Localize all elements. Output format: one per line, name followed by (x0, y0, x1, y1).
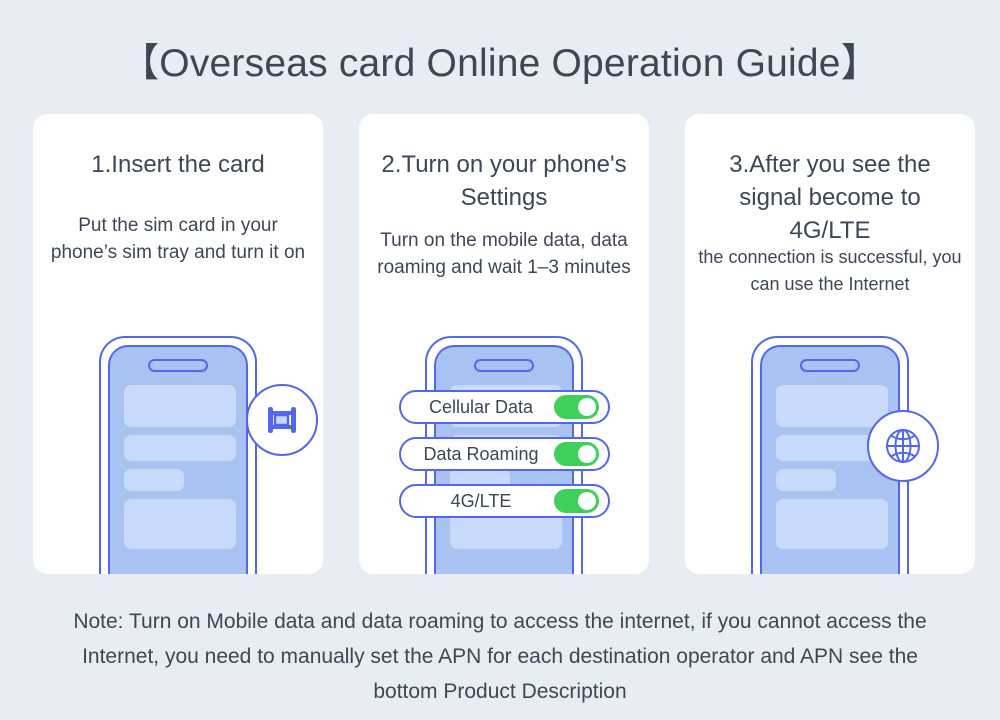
toggle-row-data-roaming[interactable]: Data Roaming (399, 437, 610, 471)
step-card-1: 1.Insert the card Put the sim card in yo… (33, 114, 323, 574)
screen-content-block (776, 469, 836, 491)
screen-content-block (124, 435, 236, 461)
phone-screen (108, 345, 248, 574)
sim-card-tray-badge (246, 384, 318, 456)
data-roaming-switch[interactable] (554, 442, 599, 466)
screen-content-block (124, 469, 184, 491)
screen-content-block (124, 385, 236, 427)
toggle-row-4g-lte[interactable]: 4G/LTE (399, 484, 610, 518)
phone-speaker-icon (800, 359, 860, 372)
toggle-label: Cellular Data (401, 397, 554, 418)
step-1-heading: 1.Insert the card (45, 148, 311, 181)
step-card-2: 2.Turn on your phone's Settings Turn on … (359, 114, 649, 574)
step-card-3: 3.After you see the signal become to 4G/… (685, 114, 975, 574)
sim-card-tray-icon (262, 400, 302, 440)
switch-knob (578, 492, 596, 510)
page-title: 【Overseas card Online Operation Guide】 (0, 32, 1000, 88)
step-3-subtext: the connection is successful, you can us… (695, 244, 965, 298)
step-3-heading: 3.After you see the signal become to 4G/… (697, 148, 963, 247)
screen-content-block (124, 499, 236, 549)
cellular-data-switch[interactable] (554, 395, 599, 419)
steps-container: 1.Insert the card Put the sim card in yo… (33, 114, 975, 574)
screen-content-block (776, 499, 888, 549)
globe-badge (867, 410, 939, 482)
settings-toggle-list: Cellular Data Data Roaming 4G/LTE (359, 390, 649, 518)
toggle-label: 4G/LTE (401, 491, 554, 512)
switch-knob (578, 398, 596, 416)
switch-knob (578, 445, 596, 463)
globe-icon (881, 424, 925, 468)
infographic-page: 【Overseas card Online Operation Guide】 1… (0, 0, 1000, 720)
phone-speaker-icon (474, 359, 534, 372)
toggle-label: Data Roaming (401, 444, 554, 465)
screen-content-block (776, 385, 888, 427)
footer-note: Note: Turn on Mobile data and data roami… (50, 604, 950, 709)
phone-mockup (99, 336, 257, 574)
4g-lte-switch[interactable] (554, 489, 599, 513)
step-2-subtext: Turn on the mobile data, data roaming an… (369, 227, 639, 281)
step-2-heading: 2.Turn on your phone's Settings (371, 148, 637, 214)
phone-speaker-icon (148, 359, 208, 372)
step-1-subtext: Put the sim card in your phone’s sim tra… (43, 212, 313, 266)
toggle-row-cellular-data[interactable]: Cellular Data (399, 390, 610, 424)
